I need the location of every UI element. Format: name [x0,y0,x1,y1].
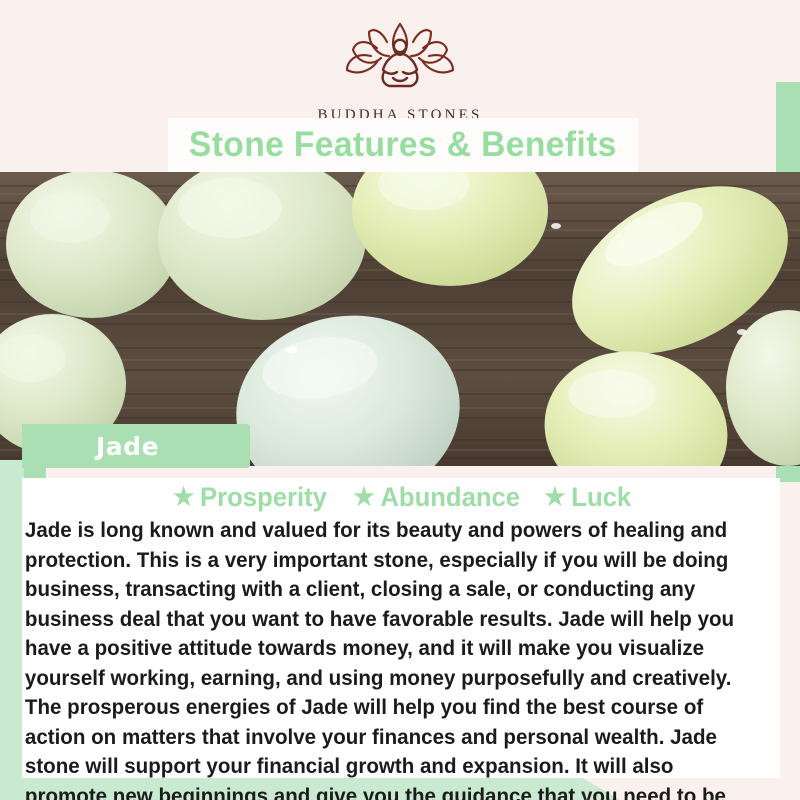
stone-name-badge: Jade [22,424,250,468]
stone-name: Jade [96,432,159,461]
keyword-luck: ★ Luck [544,482,631,513]
content-panel: ★ Prosperity ★ Abundance ★ Luck Jade is … [22,478,780,778]
keyword-label: Abundance [380,482,520,513]
keyword-label: Prosperity [200,482,327,513]
hero-stone-photo [0,172,800,466]
keyword-abundance: ★ Abundance [353,482,520,513]
page-title: Stone Features & Benefits [189,125,617,165]
star-icon: ★ [173,485,194,510]
star-icon: ★ [544,485,565,510]
stone-description: Jade is long known and valued for its be… [22,516,753,800]
brand-logo: BUDDHA STONES [0,18,800,124]
lotus-meditation-icon [0,18,800,103]
keyword-label: Luck [571,482,631,513]
section-title-panel: Stone Features & Benefits [168,118,638,172]
infographic-card: BUDDHA STONES Stone Features & Benefits [0,0,800,800]
star-icon: ★ [353,485,374,510]
decorative-green-bar-left-lower [0,460,24,790]
keyword-prosperity: ★ Prosperity [173,482,327,513]
keyword-row: ★ Prosperity ★ Abundance ★ Luck [22,482,780,513]
